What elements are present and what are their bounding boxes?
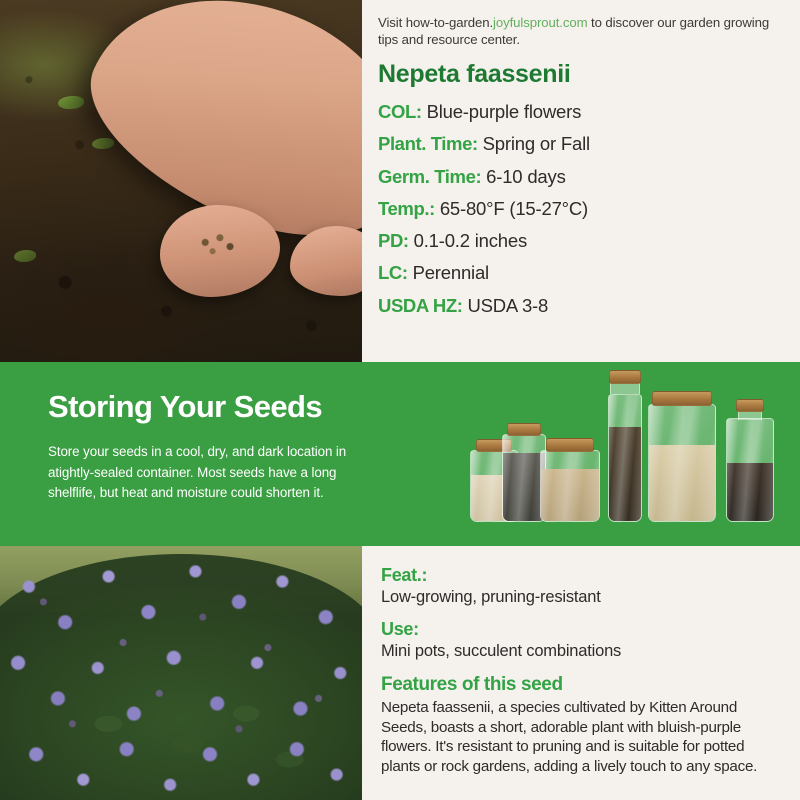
jar-cork: [652, 391, 712, 406]
spec-label: USDA HZ:: [378, 295, 463, 316]
jar-cork: [546, 438, 594, 452]
spec-value: 65-80°F (15-27°C): [440, 198, 588, 219]
spec-label: Germ. Time:: [378, 166, 481, 187]
spec-value: 6-10 days: [486, 166, 565, 187]
spec-row-germ-time: Germ. Time: 6-10 days: [378, 161, 782, 193]
seeds-in-hand: [196, 232, 242, 258]
storing-seeds-title: Storing Your Seeds: [48, 389, 322, 425]
spec-row-col: COL: Blue-purple flowers: [378, 96, 782, 128]
jar-glass: [503, 435, 545, 521]
plant-info-panel: Visit how-to-garden.joyfulsprout.com to …: [362, 0, 800, 362]
species-name-heading: Nepeta faassenii: [378, 59, 782, 89]
spec-value: USDA 3-8: [467, 295, 548, 316]
jar-cork: [507, 423, 541, 436]
feat-label: Feat.:: [381, 564, 782, 586]
seed-jar: [608, 394, 642, 522]
catmint-bloom-shadows: [0, 546, 362, 800]
seed-packet-infographic: Visit how-to-garden.joyfulsprout.com to …: [0, 0, 800, 800]
spec-label: COL:: [378, 101, 422, 122]
spec-label: LC:: [378, 262, 408, 283]
seed-jar: [648, 404, 716, 522]
spec-value: 0.1-0.2 inches: [414, 230, 527, 251]
jar-glass: [727, 419, 773, 521]
use-value: Mini pots, succulent combinations: [381, 640, 782, 663]
spec-row-lc: LC: Perennial: [378, 257, 782, 289]
features-panel: Feat.: Low-growing, pruning-resistant Us…: [362, 546, 800, 800]
jar-glass: [609, 395, 641, 521]
spec-label: PD:: [378, 230, 409, 251]
seed-jars-illustration: [460, 370, 790, 540]
features-heading: Features of this seed: [381, 672, 782, 697]
features-paragraph: Nepeta faassenii, a species cultivated b…: [381, 698, 782, 776]
storing-seeds-body: Store your seeds in a cool, dry, and dar…: [48, 442, 378, 504]
spec-value: Blue-purple flowers: [427, 101, 582, 122]
site-visit-line: Visit how-to-garden.joyfulsprout.com to …: [378, 14, 782, 48]
storing-seeds-section: Storing Your Seeds Store your seeds in a…: [0, 362, 800, 546]
feat-value: Low-growing, pruning-resistant: [381, 586, 782, 609]
jar-glass: [541, 451, 599, 521]
jar-glass: [649, 405, 715, 521]
seed-jar: [540, 450, 600, 522]
seed-jar: [726, 418, 774, 522]
catmint-flowers-photo: [0, 546, 362, 800]
spec-row-plant-time: Plant. Time: Spring or Fall: [378, 128, 782, 160]
brand-website-link[interactable]: joyfulsprout.com: [493, 15, 587, 30]
spec-row-pd: PD: 0.1-0.2 inches: [378, 225, 782, 257]
spec-row-usda-hz: USDA HZ: USDA 3-8: [378, 290, 782, 322]
top-section: Visit how-to-garden.joyfulsprout.com to …: [0, 0, 800, 362]
spec-label: Temp.:: [378, 198, 435, 219]
use-label: Use:: [381, 618, 782, 640]
spec-value: Perennial: [413, 262, 489, 283]
jar-cork: [736, 399, 764, 412]
spec-label: Plant. Time:: [378, 133, 478, 154]
spec-value: Spring or Fall: [483, 133, 590, 154]
spec-row-temp: Temp.: 65-80°F (15-27°C): [378, 193, 782, 225]
plant-spec-list: COL: Blue-purple flowers Plant. Time: Sp…: [378, 96, 782, 322]
visit-prefix-text: Visit how-to-garden.: [378, 15, 493, 30]
jar-cork: [609, 370, 641, 384]
hand-planting-seeds-photo: [0, 0, 362, 362]
bottom-section: Feat.: Low-growing, pruning-resistant Us…: [0, 546, 800, 800]
